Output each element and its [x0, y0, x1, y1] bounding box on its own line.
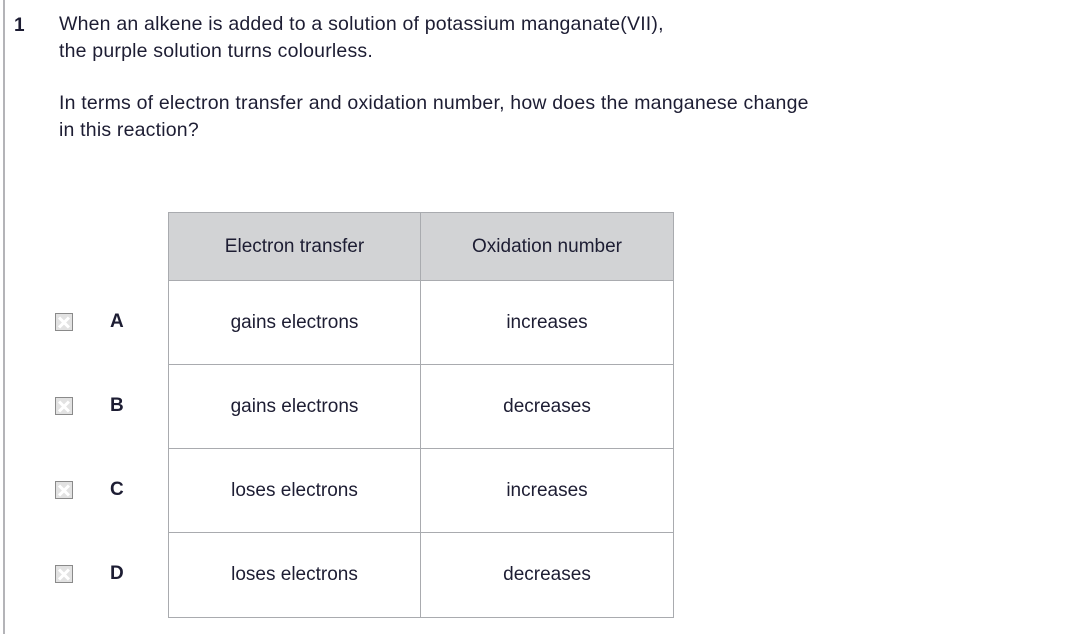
table-header-row: Electron transfer Oxidation number: [0, 212, 1079, 280]
checkbox-icon-b[interactable]: [55, 397, 73, 415]
option-pick-c[interactable]: C: [55, 448, 155, 532]
cell-electron-transfer-b: gains electrons: [169, 365, 421, 450]
option-row-c[interactable]: C loses electrons increases: [0, 448, 1079, 532]
column-header-electron-transfer: Electron transfer: [169, 213, 421, 282]
answer-options: Electron transfer Oxidation number A gai…: [0, 212, 1079, 616]
option-pick-a[interactable]: A: [55, 280, 155, 364]
question-text: When an alkene is added to a solution of…: [59, 11, 1064, 143]
option-pick-b[interactable]: B: [55, 364, 155, 448]
option-letter-a: A: [110, 311, 124, 333]
cell-electron-transfer-d: loses electrons: [169, 533, 421, 618]
question-block: 1 When an alkene is added to a solution …: [14, 11, 1064, 143]
option-pick-d[interactable]: D: [55, 532, 155, 616]
question-stem: When an alkene is added to a solution of…: [59, 11, 1064, 64]
answer-table-row-c: loses electrons increases: [168, 448, 674, 534]
question-stem-line-2: the purple solution turns colourless.: [59, 40, 373, 62]
option-letter-d: D: [110, 563, 124, 585]
answer-table-row-d: loses electrons decreases: [168, 532, 674, 618]
cell-oxidation-number-b: decreases: [421, 365, 674, 450]
column-header-oxidation-number: Oxidation number: [421, 213, 674, 282]
cell-oxidation-number-a: increases: [421, 281, 674, 366]
answer-table-row-b: gains electrons decreases: [168, 364, 674, 450]
cell-oxidation-number-c: increases: [421, 449, 674, 534]
checkbox-icon-c[interactable]: [55, 481, 73, 499]
checkbox-icon-a[interactable]: [55, 313, 73, 331]
question-stem-line-1: When an alkene is added to a solution of…: [59, 13, 664, 35]
question-prompt-line-1: In terms of electron transfer and oxidat…: [59, 92, 809, 114]
cell-electron-transfer-a: gains electrons: [169, 281, 421, 366]
question-prompt-line-2: in this reaction?: [59, 119, 199, 141]
option-letter-c: C: [110, 479, 124, 501]
answer-table-header: Electron transfer Oxidation number: [168, 212, 674, 282]
cell-oxidation-number-d: decreases: [421, 533, 674, 618]
option-letter-b: B: [110, 395, 124, 417]
cell-electron-transfer-c: loses electrons: [169, 449, 421, 534]
checkbox-icon-d[interactable]: [55, 565, 73, 583]
question-prompt: In terms of electron transfer and oxidat…: [59, 90, 1064, 143]
option-row-a[interactable]: A gains electrons increases: [0, 280, 1079, 364]
table-row: loses electrons increases: [169, 449, 674, 534]
table-row: loses electrons decreases: [169, 533, 674, 618]
question-number: 1: [14, 13, 44, 39]
table-row: gains electrons increases: [169, 281, 674, 366]
option-row-d[interactable]: D loses electrons decreases: [0, 532, 1079, 616]
answer-table-row-a: gains electrons increases: [168, 280, 674, 366]
option-row-b[interactable]: B gains electrons decreases: [0, 364, 1079, 448]
table-row: gains electrons decreases: [169, 365, 674, 450]
